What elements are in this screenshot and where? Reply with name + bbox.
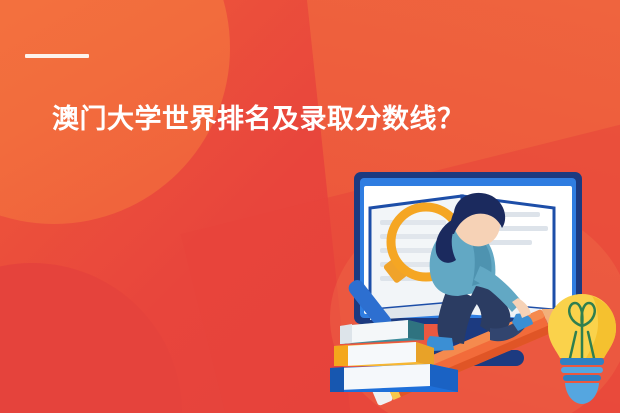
page-title: 澳门大学世界排名及录取分数线？ [52,103,465,136]
book-bottom [330,364,458,392]
decorative-rule [25,54,89,58]
online-study-search-illustration [330,168,620,413]
article-cover-banner: 澳门大学世界排名及录取分数线？ [0,0,620,413]
book-middle [334,342,434,366]
